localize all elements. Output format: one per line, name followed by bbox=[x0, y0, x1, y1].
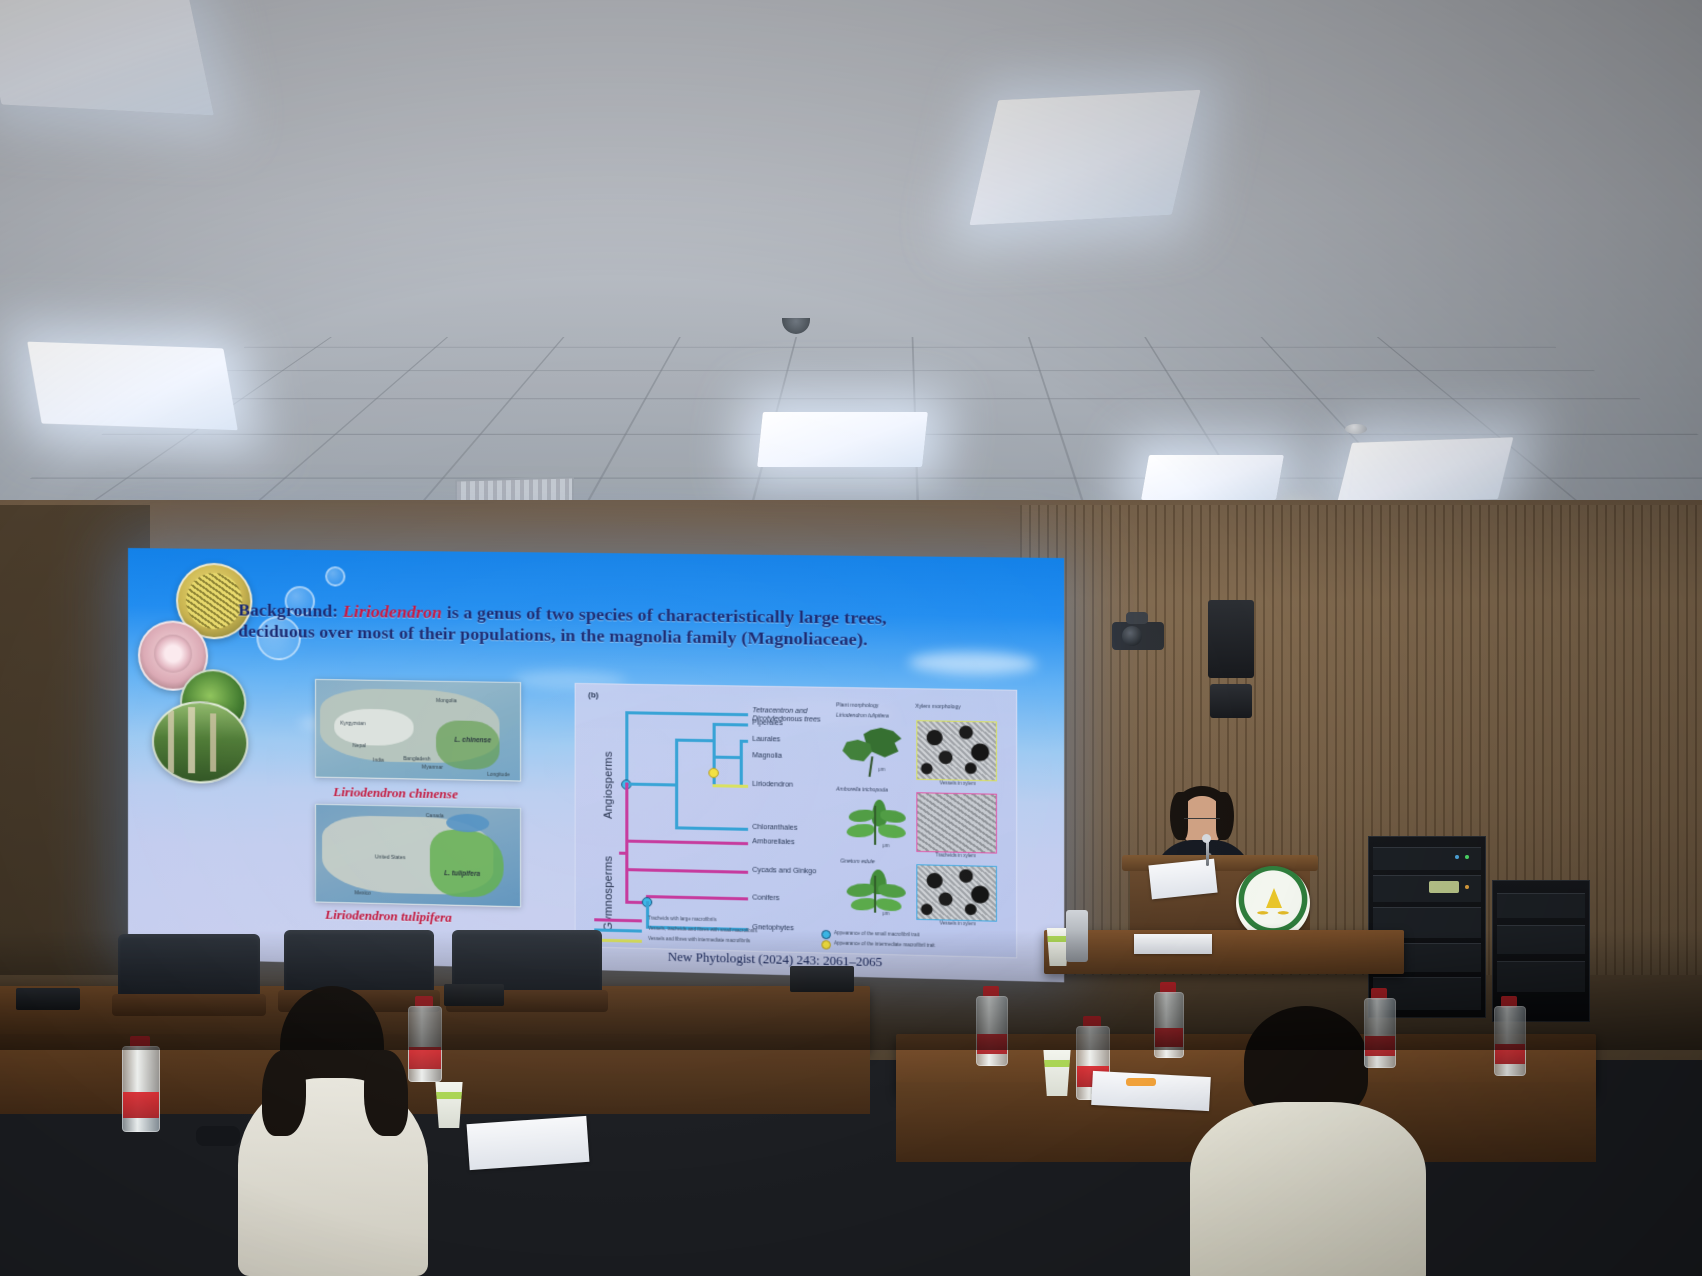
usa-map-caption: Liriodendron tulipifera bbox=[325, 907, 452, 926]
liriodendron-leaf-art: μm bbox=[840, 725, 905, 778]
bottle-label bbox=[123, 1092, 159, 1117]
taxon-label: Chloranthales bbox=[752, 824, 797, 832]
amborella-leaf-art: μm bbox=[840, 797, 910, 854]
xylem-caption: Vessels in xylem bbox=[940, 780, 976, 786]
taxon-label: Amborellales bbox=[752, 838, 794, 846]
panel-tag: (b) bbox=[588, 690, 599, 699]
status-led bbox=[1465, 855, 1469, 859]
usa-range-highlight bbox=[430, 829, 504, 897]
xylem-micrograph bbox=[916, 864, 997, 922]
bottle-label bbox=[409, 1047, 441, 1069]
ceiling-light bbox=[27, 342, 238, 431]
dome-camera bbox=[782, 318, 810, 334]
attendee-hair-lock bbox=[364, 1050, 408, 1136]
ambient-shadow bbox=[0, 930, 1702, 1050]
legend-swatch bbox=[594, 918, 642, 922]
cup-stripe bbox=[432, 1092, 466, 1098]
emblem-wheat bbox=[1257, 905, 1289, 918]
rack-display bbox=[1429, 881, 1459, 893]
attendee-torso bbox=[1190, 1102, 1426, 1276]
smoke-detector bbox=[1345, 424, 1367, 434]
xylem-caption: Tracheids in xylem bbox=[935, 852, 975, 858]
xylem-micrograph bbox=[916, 792, 997, 853]
china-species-label: L. chinense bbox=[454, 737, 491, 745]
ceiling-light bbox=[1337, 437, 1514, 505]
clade-label-angiosperms: Angiosperms bbox=[603, 707, 615, 819]
clade-label-gymnosperms: Gymnosperms bbox=[603, 829, 615, 931]
eyeglasses-case[interactable] bbox=[196, 1126, 240, 1146]
phylogeny-figure: (b) Angiosperms Gymnosperms bbox=[575, 683, 1018, 958]
scalebar: μm bbox=[882, 843, 889, 848]
wall-speaker bbox=[1208, 600, 1254, 678]
column-header-plant-morphology: Plant morphology bbox=[836, 702, 879, 709]
presenter-hair-side bbox=[1216, 792, 1234, 840]
taxon-label: Liriodendron bbox=[752, 781, 793, 789]
species-label: Amborella trichopoda bbox=[836, 787, 888, 794]
microphone bbox=[1206, 840, 1209, 866]
taxon-label: Conifers bbox=[752, 894, 779, 902]
column-header-xylem-morphology: Xylem morphology bbox=[915, 704, 961, 711]
presenter-hair-side bbox=[1170, 792, 1188, 840]
highlighter-pen[interactable] bbox=[1126, 1078, 1156, 1086]
bottle-body bbox=[122, 1046, 160, 1132]
china-map: Mongolia Kyrgyzstan Nepal India Banglade… bbox=[315, 679, 521, 782]
microphone-head bbox=[1202, 834, 1211, 843]
ceiling-light bbox=[1141, 455, 1284, 500]
ceiling-light bbox=[0, 0, 214, 116]
china-map-caption: Liriodendron chinense bbox=[333, 784, 458, 803]
forest-photo bbox=[152, 700, 248, 784]
taxon-label: Laurales bbox=[752, 736, 780, 744]
taxon-label: Piperales bbox=[752, 719, 783, 727]
ptz-camera bbox=[1112, 612, 1164, 650]
attendee-hair-lock bbox=[262, 1050, 306, 1136]
document-stack[interactable] bbox=[467, 1116, 590, 1170]
species-label: Gnetum edule bbox=[840, 858, 874, 865]
species-label: Liriodendron tulipifera bbox=[836, 713, 889, 720]
wood-wall-panel bbox=[1020, 505, 1702, 975]
scalebar: μm bbox=[878, 767, 885, 772]
ceiling bbox=[0, 0, 1702, 520]
gnetum-leaf-art: μm bbox=[840, 869, 910, 922]
paper-cup[interactable] bbox=[432, 1082, 466, 1128]
decorative-bubble bbox=[325, 566, 345, 586]
status-led bbox=[1465, 885, 1469, 889]
projection-screen[interactable]: Background: Liriodendron is a genus of t… bbox=[128, 548, 1064, 982]
status-led bbox=[1455, 855, 1459, 859]
usa-map: United States Canada Mexico L. tulipifer… bbox=[315, 804, 521, 908]
scalebar: μm bbox=[882, 911, 889, 916]
water-bottle[interactable] bbox=[122, 1036, 158, 1132]
legend-label: Tracheids with large macrofibrils bbox=[648, 915, 716, 922]
tree-node-intermediate-trait bbox=[708, 768, 718, 778]
conference-room-scene: Background: Liriodendron is a genus of t… bbox=[0, 0, 1702, 1276]
ceiling-light bbox=[757, 412, 928, 467]
glasses bbox=[1184, 818, 1220, 824]
xylem-micrograph bbox=[916, 720, 997, 781]
china-range-highlight bbox=[436, 720, 499, 770]
usa-species-label: L. tulipifera bbox=[444, 870, 480, 878]
taxon-label: Cycads and Ginkgo bbox=[752, 867, 816, 876]
taxon-label: Magnolia bbox=[752, 752, 782, 760]
genus-name: Liriodendron bbox=[343, 601, 442, 622]
ceiling-light bbox=[969, 90, 1200, 225]
university-emblem bbox=[1236, 866, 1310, 940]
title-prefix: Background: bbox=[238, 599, 338, 620]
document-stack[interactable] bbox=[1091, 1071, 1211, 1111]
cup-stripe bbox=[1040, 1060, 1074, 1066]
xylem-caption: Vessels in xylem bbox=[940, 920, 976, 926]
wall-speaker bbox=[1210, 684, 1252, 718]
